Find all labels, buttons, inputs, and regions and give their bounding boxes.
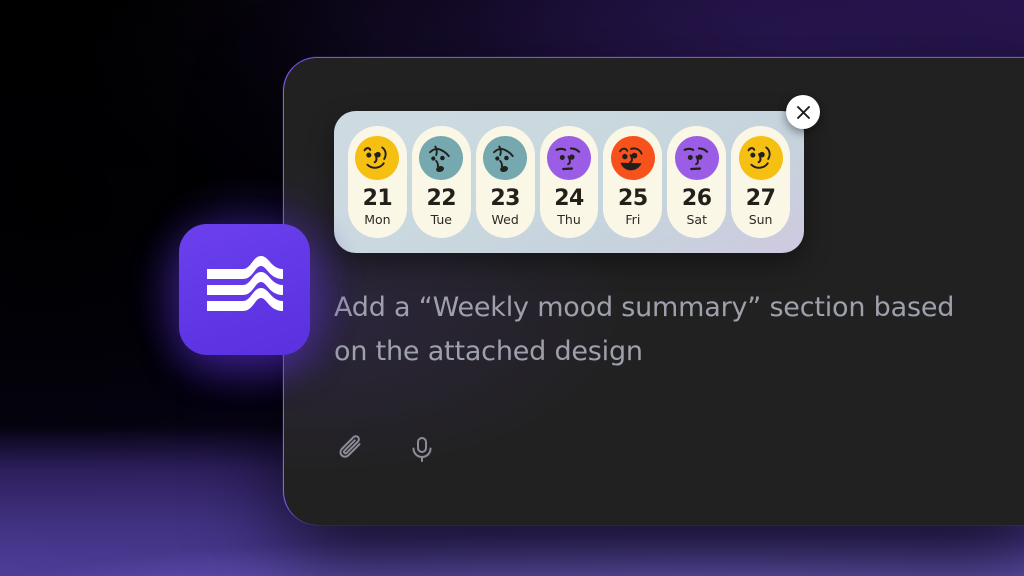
wave-lines-icon [203,253,287,327]
mood-day-number: 23 [490,187,520,210]
mood-day-pill[interactable]: 25Fri [603,126,662,238]
mood-day-pill[interactable]: 21Mon [348,126,407,238]
attachment-preview[interactable]: 21Mon22Tue23Wed24Thu25Fri26Sat27Sun [334,111,804,253]
mood-day-pill[interactable]: 27Sun [731,126,790,238]
mood-day-name: Sat [686,213,707,227]
mood-day-number: 21 [363,187,393,210]
prompt-text[interactable]: Add a “Weekly mood summary” section base… [334,286,994,373]
mood-face-sad [482,135,528,181]
weekly-mood-widget: 21Mon22Tue23Wed24Thu25Fri26Sat27Sun [334,111,804,253]
mood-day-name: Fri [625,213,640,227]
microphone-icon[interactable] [402,429,442,469]
composer-toolbar [332,429,442,469]
close-icon[interactable] [786,95,820,129]
mood-day-number: 24 [554,187,584,210]
app-icon[interactable] [179,224,310,355]
mood-face-happy [738,135,784,181]
mood-day-name: Thu [557,213,580,227]
mood-day-name: Mon [364,213,390,227]
mood-day-pill[interactable]: 24Thu [540,126,599,238]
mood-day-number: 25 [618,187,648,210]
mood-face-neutral [546,135,592,181]
mood-day-name: Tue [431,213,452,227]
attach-file-icon[interactable] [332,429,372,469]
mood-face-neutral [674,135,720,181]
mood-day-number: 26 [682,187,712,210]
mood-day-number: 22 [426,187,456,210]
mood-face-sad [418,135,464,181]
mood-face-happy [354,135,400,181]
mood-day-name: Sun [749,213,773,227]
chat-composer-panel: 21Mon22Tue23Wed24Thu25Fri26Sat27Sun Add … [283,57,1024,525]
mood-day-pill[interactable]: 23Wed [476,126,535,238]
mood-day-number: 27 [746,187,776,210]
mood-day-pill[interactable]: 26Sat [667,126,726,238]
mood-day-pill[interactable]: 22Tue [412,126,471,238]
mood-day-name: Wed [492,213,519,227]
mood-face-excited [610,135,656,181]
